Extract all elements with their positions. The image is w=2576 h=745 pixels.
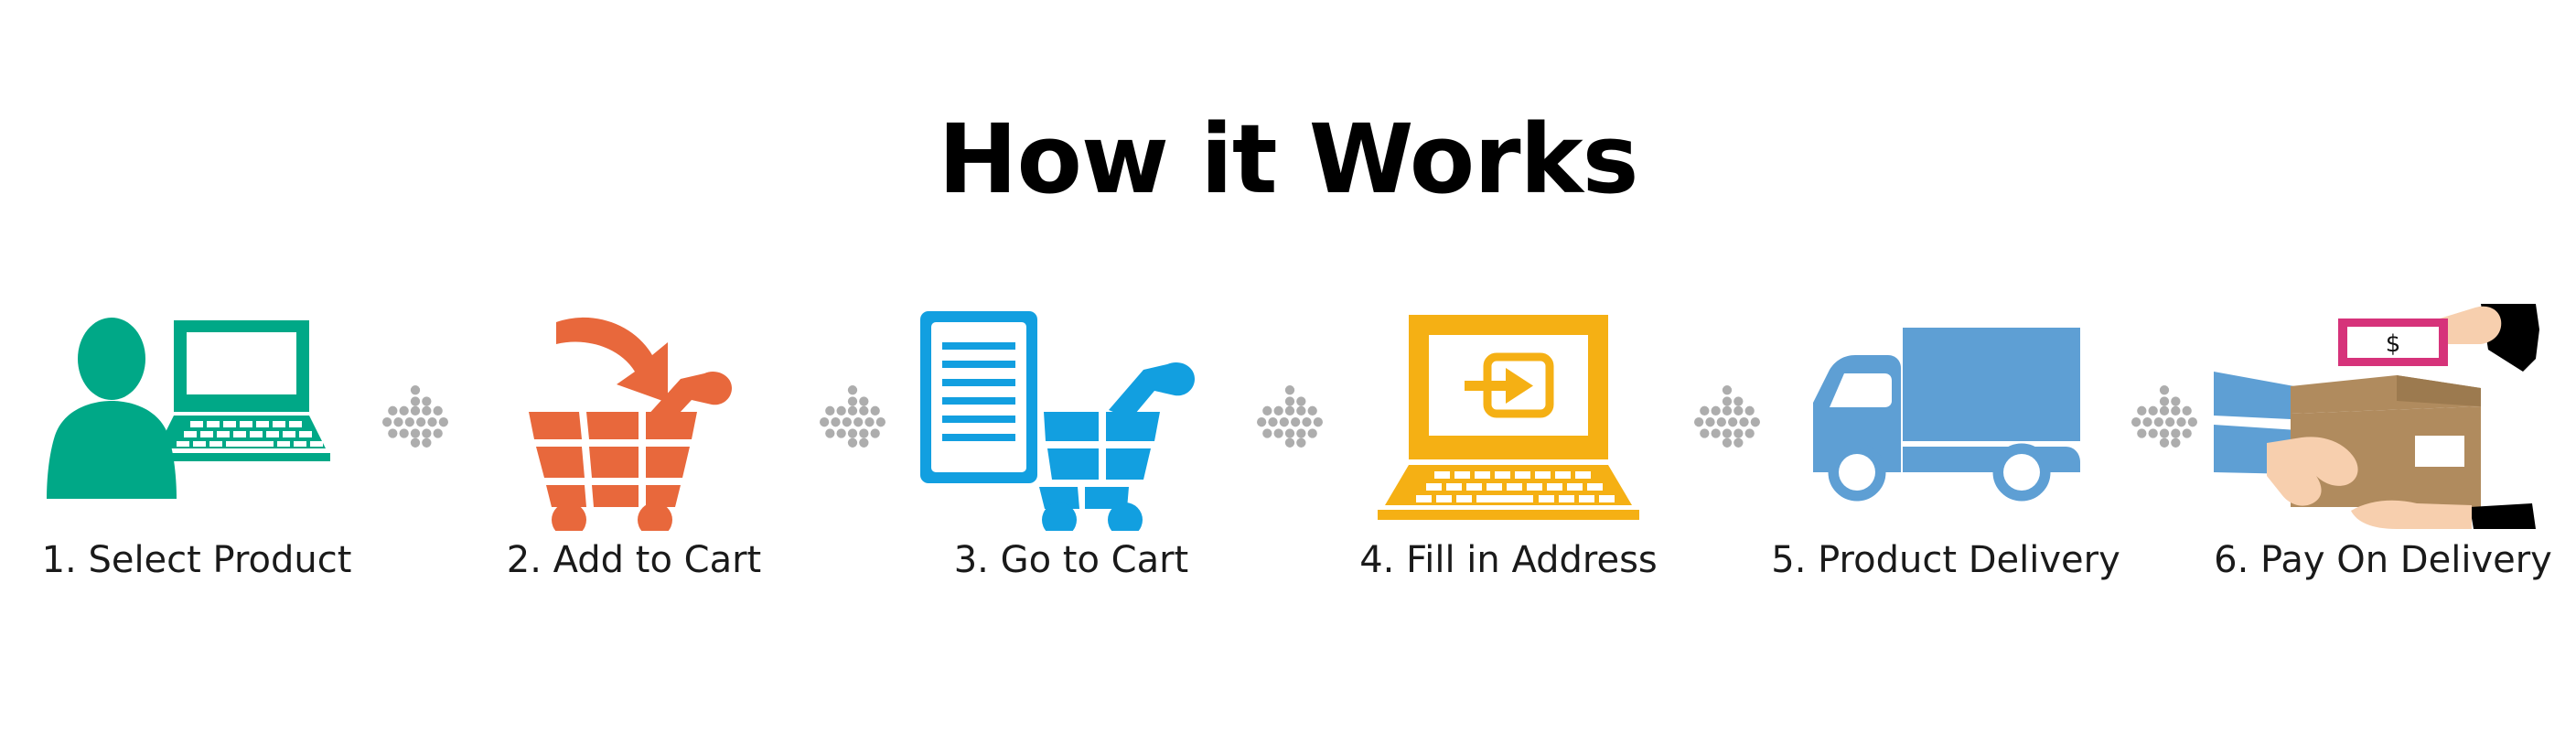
cart-with-curved-arrow-icon xyxy=(465,302,803,531)
dotted-right-arrow-icon xyxy=(816,302,889,531)
dotted-right-arrow-icon xyxy=(2128,302,2201,531)
box-lid-right xyxy=(2397,375,2481,406)
step-1-select-product[interactable]: 1. Select Product xyxy=(27,302,366,632)
step-label: 5. Product Delivery xyxy=(1771,538,2120,582)
delivery-truck-icon xyxy=(1776,302,2115,531)
steps-row: 1. Select Product xyxy=(27,302,2552,632)
step-label: 3. Go to Cart xyxy=(954,538,1189,582)
dotted-right-arrow-icon xyxy=(379,302,452,531)
step-5-product-delivery[interactable]: 5. Product Delivery xyxy=(1776,302,2115,632)
dotted-right-arrow-icon xyxy=(1253,302,1326,531)
infographic-page: How it Works xyxy=(0,0,2576,745)
step-3-go-to-cart[interactable]: 3. Go to Cart xyxy=(902,302,1240,632)
step-2-add-to-cart[interactable]: 2. Add to Cart xyxy=(465,302,803,632)
step-label: 1. Select Product xyxy=(42,538,352,582)
box-label xyxy=(2415,436,2464,467)
sleeve-left-upper xyxy=(2214,372,2294,419)
step-label: 6. Pay On Delivery xyxy=(2214,538,2552,582)
dotted-right-arrow-icon xyxy=(1690,302,1764,531)
step-label: 4. Fill in Address xyxy=(1359,538,1658,582)
step-4-fill-in-address[interactable]: 4. Fill in Address xyxy=(1339,302,1678,632)
hand-bottom xyxy=(2351,501,2472,529)
document-with-cart-icon xyxy=(902,302,1240,531)
sleeve-bottom xyxy=(2470,503,2536,529)
hands-exchanging-box-and-money-icon: $ xyxy=(2214,302,2552,531)
person-with-laptop-icon xyxy=(27,302,366,531)
step-6-pay-on-delivery[interactable]: $ 6. Pay On Delivery xyxy=(2214,302,2552,632)
page-title: How it Works xyxy=(0,108,2576,211)
step-label: 2. Add to Cart xyxy=(507,538,761,582)
dollar-symbol: $ xyxy=(2386,330,2401,358)
laptop-with-login-arrow-icon xyxy=(1339,302,1678,531)
